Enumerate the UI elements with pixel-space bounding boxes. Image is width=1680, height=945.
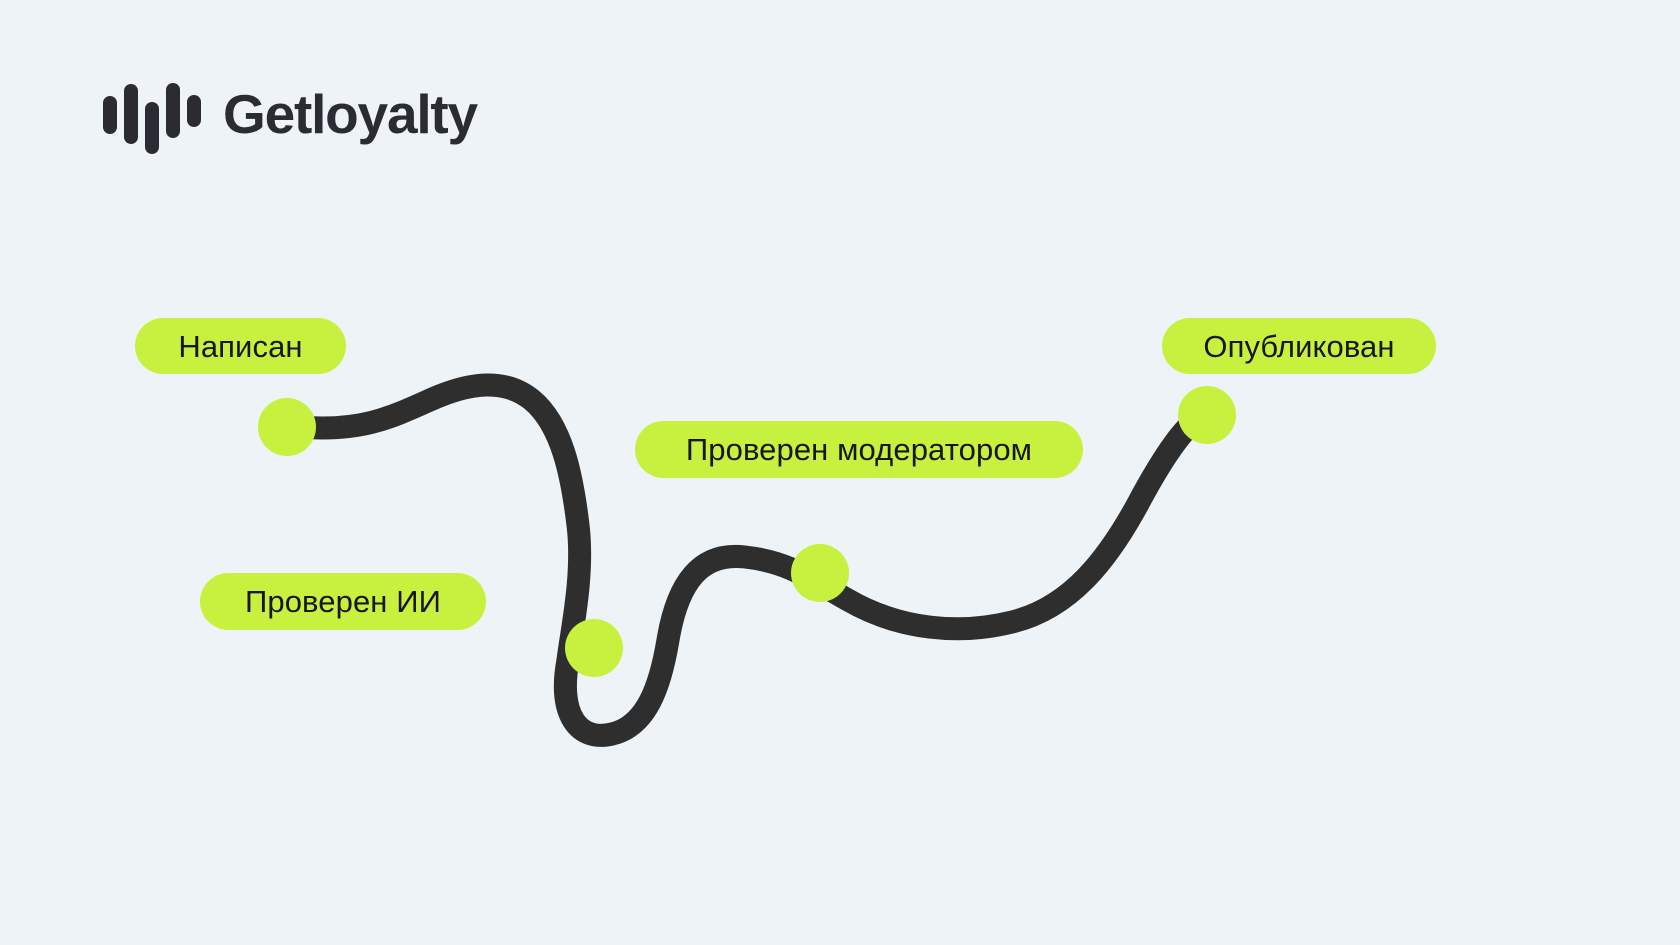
status-pill-written[interactable]: Написан: [135, 318, 346, 374]
flow-node-moderator[interactable]: [791, 544, 849, 602]
status-pill-moderator[interactable]: Проверен модератором: [635, 421, 1083, 478]
diagram-stage: Getloyalty Написан Проверен ИИ Проверен …: [0, 0, 1680, 945]
status-pill-ai[interactable]: Проверен ИИ: [200, 573, 486, 630]
flow-node-published[interactable]: [1178, 386, 1236, 444]
status-pill-published[interactable]: Опубликован: [1162, 318, 1436, 374]
flow-node-written[interactable]: [258, 398, 316, 456]
flow-node-ai[interactable]: [565, 619, 623, 677]
